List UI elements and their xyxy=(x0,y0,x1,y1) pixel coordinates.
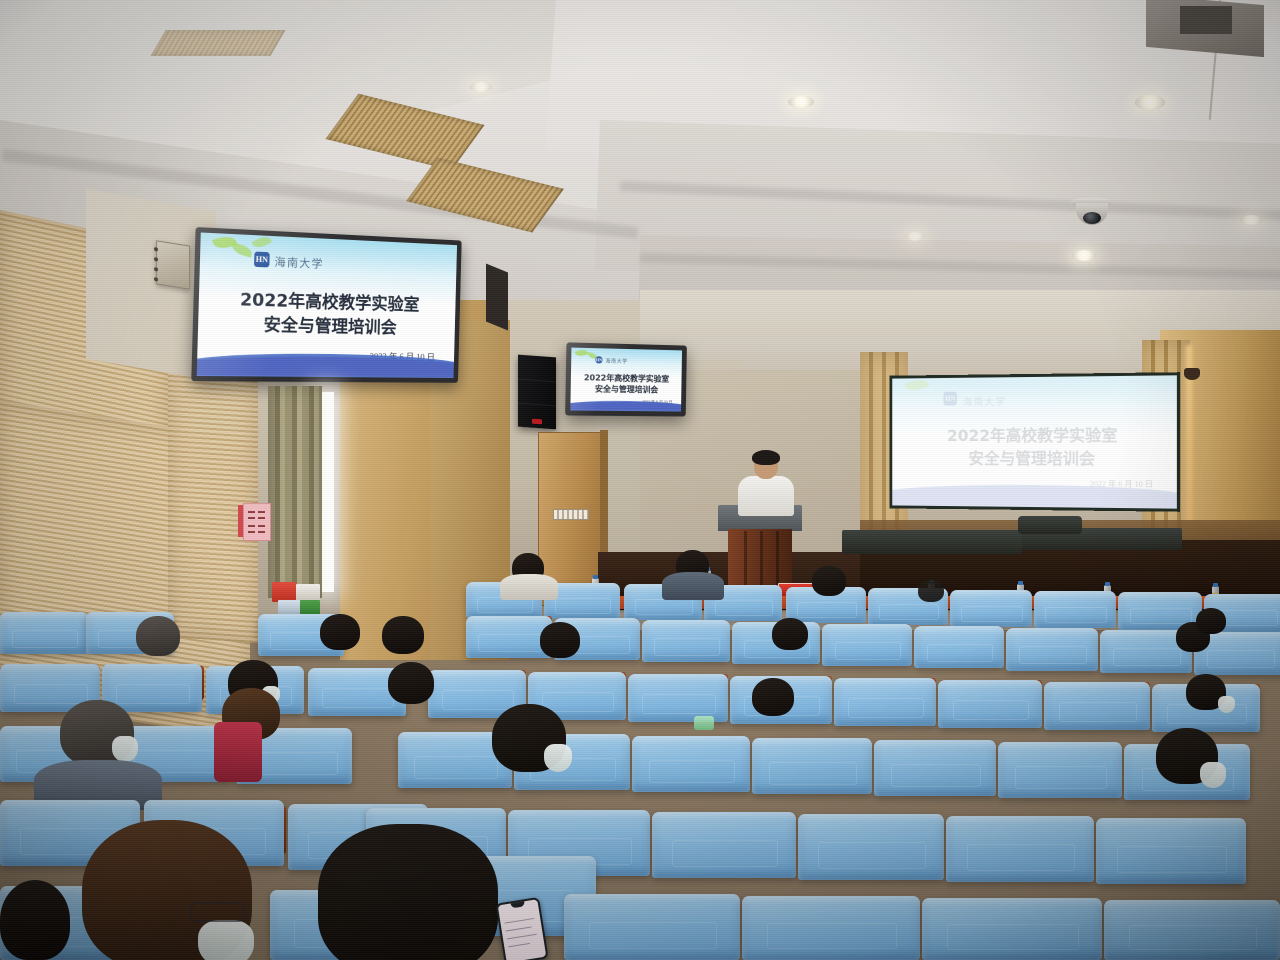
ceiling-vent-grille xyxy=(150,30,285,56)
seat[interactable] xyxy=(946,816,1094,882)
slide-content: HN 海南大学 2022年高校教学实验室 安全与管理培训会 2022 年 6 月… xyxy=(197,232,457,377)
display-panel: HN 海南大学 2022年高校教学实验室 安全与管理培训会 2022 年 6 月… xyxy=(570,348,682,412)
face-mask xyxy=(1218,696,1235,713)
attendee-head xyxy=(388,662,434,704)
slide-wave-decoration xyxy=(570,394,681,411)
seat[interactable] xyxy=(950,590,1032,627)
seat[interactable] xyxy=(798,814,944,880)
control-box[interactable] xyxy=(156,240,190,289)
attendee-head xyxy=(752,678,794,716)
slide-title-line2: 安全与管理培训会 xyxy=(892,448,1177,472)
eyeglasses-icon xyxy=(190,902,246,922)
attendee-head xyxy=(1196,608,1226,634)
university-logo-icon: HN xyxy=(943,392,956,406)
loudspeaker-cabinet xyxy=(518,355,556,430)
seat[interactable] xyxy=(874,740,996,796)
university-name: 海南大学 xyxy=(274,253,324,271)
ceiling-downlight xyxy=(1135,95,1165,110)
wall-notice-sign xyxy=(243,503,271,541)
attendee-shoulders xyxy=(214,722,262,782)
wall-bracket xyxy=(486,264,508,331)
seat[interactable] xyxy=(922,898,1102,960)
seat[interactable] xyxy=(742,896,920,960)
conference-hall-photo: HN 海南大学 2022年高校教学实验室 安全与管理培训会 2022 年 6 月… xyxy=(0,0,1280,960)
ceiling-downlight xyxy=(788,96,814,108)
university-logo-icon: HN xyxy=(254,252,270,268)
display-left-lcd[interactable]: HN 海南大学 2022年高校教学实验室 安全与管理培训会 2022 年 6 月… xyxy=(191,227,461,383)
display-center-lcd[interactable]: HN 海南大学 2022年高校教学实验室 安全与管理培训会 2022 年 6 月… xyxy=(565,342,687,416)
attendee-head xyxy=(382,616,424,654)
attendee-head xyxy=(918,580,944,602)
item-on-seat xyxy=(694,716,714,730)
attendee-head-foreground xyxy=(318,824,498,960)
slide-wave-decoration xyxy=(892,472,1177,508)
slide-content: HN 海南大学 2022年高校教学实验室 安全与管理培训会 2022 年 6 月… xyxy=(892,375,1177,508)
speaker-person xyxy=(736,452,796,514)
ceiling-downlight xyxy=(905,232,925,241)
attendee-head xyxy=(320,614,360,650)
attendee-head xyxy=(772,618,808,650)
university-name: 海南大学 xyxy=(963,393,1007,408)
seat[interactable] xyxy=(652,812,796,878)
seat[interactable] xyxy=(1044,682,1150,730)
seat[interactable] xyxy=(998,742,1122,798)
slide-content: HN 海南大学 2022年高校教学实验室 安全与管理培训会 2022 年 6 月… xyxy=(570,348,682,412)
face-mask xyxy=(544,744,572,772)
seat[interactable] xyxy=(1006,628,1098,671)
ceiling-downlight xyxy=(470,82,492,92)
ceiling-equipment-panel xyxy=(1180,6,1232,34)
seat[interactable] xyxy=(0,612,88,654)
attendee-head xyxy=(136,616,180,656)
attendee-shoulders xyxy=(500,574,558,600)
seat[interactable] xyxy=(752,738,872,794)
slide-wave-decoration xyxy=(197,339,455,378)
seat[interactable] xyxy=(1104,900,1280,960)
display-panel: HN 海南大学 2022年高校教学实验室 安全与管理培训会 2022 年 6 月… xyxy=(197,232,457,377)
seat[interactable] xyxy=(938,680,1042,728)
stage-chair xyxy=(1018,516,1082,534)
slide-title-line1: 2022年高校教学实验室 xyxy=(892,425,1177,448)
seat[interactable] xyxy=(822,624,912,666)
face-mask xyxy=(1200,762,1226,788)
seat[interactable] xyxy=(834,678,936,726)
slide-sky xyxy=(892,375,1177,411)
university-name: 海南大学 xyxy=(605,357,627,365)
face-mask xyxy=(112,736,138,762)
wall-speaker-small xyxy=(1184,368,1200,380)
seat[interactable] xyxy=(632,736,750,792)
ceiling-downlight xyxy=(1072,250,1096,261)
seat[interactable] xyxy=(1096,818,1246,884)
supply-box xyxy=(272,582,296,602)
seat[interactable] xyxy=(642,620,730,662)
screen-surface: HN 海南大学 2022年高校教学实验室 安全与管理培训会 2022 年 6 月… xyxy=(892,375,1177,508)
seat[interactable] xyxy=(1034,591,1116,628)
ceiling-downlight xyxy=(1240,215,1262,225)
projection-screen: HN 海南大学 2022年高校教学实验室 安全与管理培训会 2022 年 6 月… xyxy=(889,372,1180,512)
seat[interactable] xyxy=(628,674,728,722)
stage-table xyxy=(842,530,1022,554)
attendee-head xyxy=(540,622,580,658)
attendee-head-foreground xyxy=(0,880,70,960)
seat[interactable] xyxy=(564,894,740,960)
window-curtain xyxy=(268,386,322,598)
dome-camera-icon xyxy=(1070,198,1114,224)
face-mask xyxy=(198,920,254,960)
attendee-shoulders xyxy=(662,572,724,600)
attendee-head xyxy=(812,566,846,596)
university-logo-icon: HN xyxy=(595,356,602,363)
seat[interactable] xyxy=(914,626,1004,668)
